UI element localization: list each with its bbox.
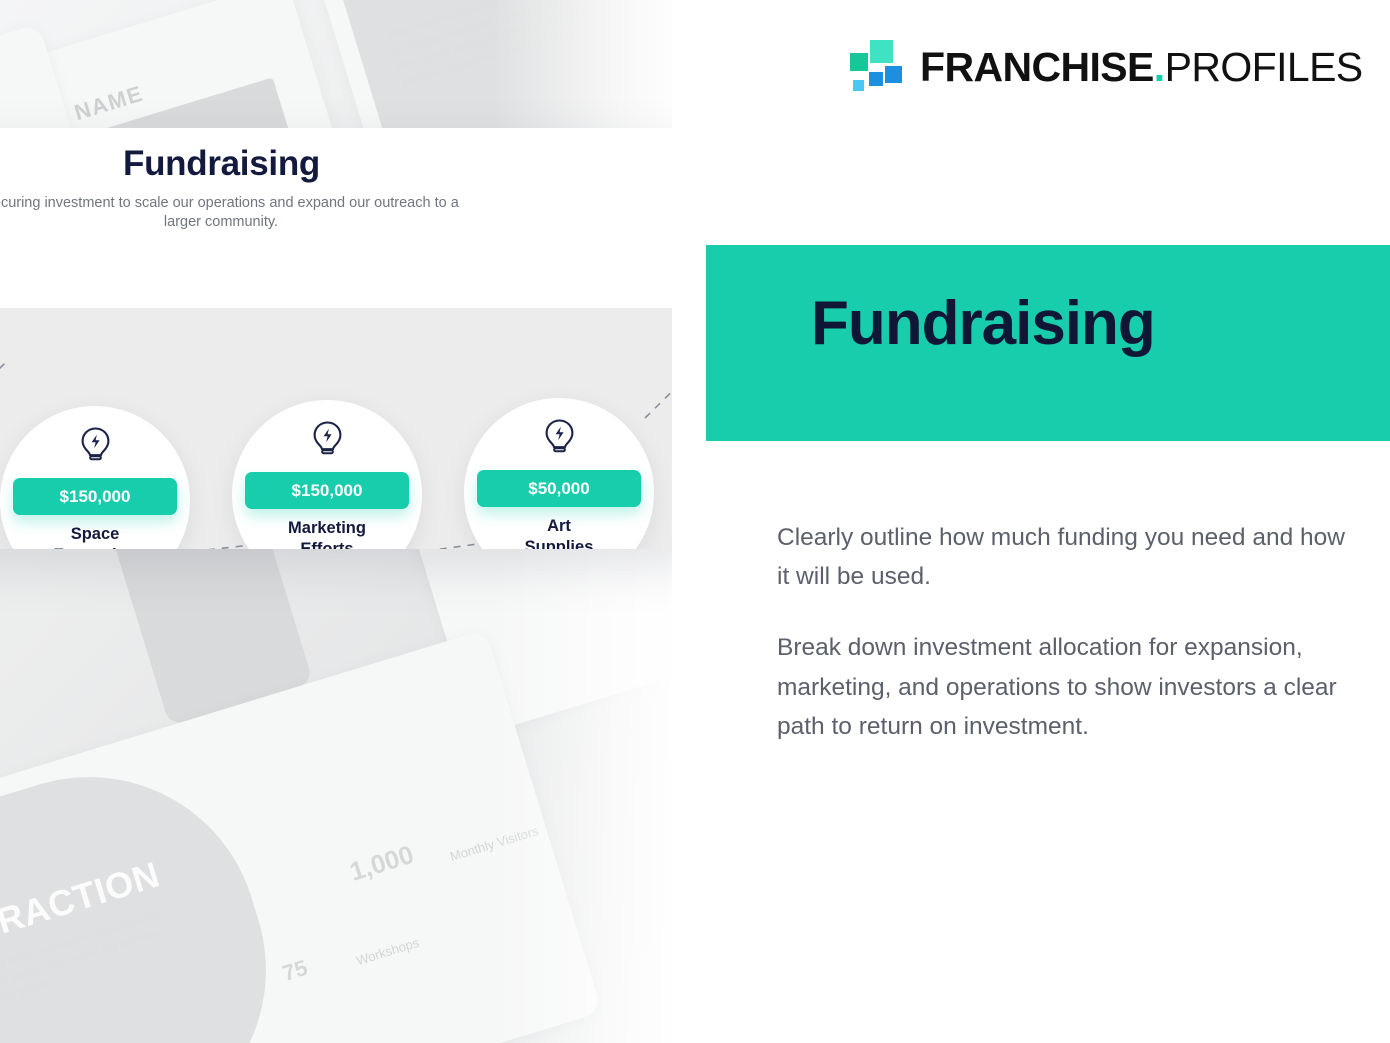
section-description: Clearly outline how much funding you nee… xyxy=(777,518,1353,746)
funding-amount-pill: $150,000 xyxy=(245,472,409,509)
lightbulb-icon xyxy=(232,420,422,463)
lightbulb-icon xyxy=(464,418,654,461)
logo-wordmark: FRANCHISE.PROFILES xyxy=(920,47,1363,88)
slide-preview-card: Fundraising Securing investment to scale… xyxy=(0,128,703,549)
lightbulb-icon xyxy=(0,426,190,469)
logo-word-franchise: FRANCHISE xyxy=(920,44,1154,90)
slide-preview-title: Fundraising xyxy=(0,144,703,184)
logo-mark-squares-icon xyxy=(848,38,906,96)
lightbulb-icon-svg xyxy=(79,426,112,464)
funding-node-label: Marketing Efforts xyxy=(232,518,422,549)
brand-logo: FRANCHISE.PROFILES xyxy=(848,38,1363,96)
slide-preview-subtitle: Securing investment to scale our operati… xyxy=(0,194,471,231)
funding-node-label: Space Expansion xyxy=(0,524,190,549)
lightbulb-icon-svg xyxy=(543,418,576,456)
logo-square-teal-large xyxy=(870,40,893,63)
funding-node-art-supplies[interactable]: $50,000 Art Supplies xyxy=(464,398,654,549)
slide-canvas: COMPANY NAME Investor pitch deck THE PRO… xyxy=(0,0,1390,1043)
logo-square-blue-small xyxy=(869,72,883,86)
logo-square-light-blue xyxy=(853,80,864,91)
logo-dot: . xyxy=(1154,44,1165,90)
description-paragraph-1: Clearly outline how much funding you nee… xyxy=(777,518,1353,596)
funding-amount-pill: $50,000 xyxy=(477,470,641,507)
description-paragraph-2: Break down investment allocation for exp… xyxy=(777,628,1353,746)
right-content-pane: FRANCHISE.PROFILES Fundraising Clearly o… xyxy=(672,0,1390,1043)
logo-square-blue-large xyxy=(885,66,902,83)
lightbulb-icon-svg xyxy=(311,420,344,458)
logo-square-green xyxy=(850,53,868,71)
funding-node-space-expansion[interactable]: $150,000 Space Expansion xyxy=(0,406,190,549)
funding-amount-pill: $150,000 xyxy=(13,478,177,515)
funding-node-label: Art Supplies xyxy=(464,516,654,549)
section-banner: Fundraising xyxy=(706,245,1390,441)
funding-node-marketing-efforts[interactable]: $150,000 Marketing Efforts xyxy=(232,400,422,549)
section-title: Fundraising xyxy=(811,293,1155,355)
logo-word-profiles: PROFILES xyxy=(1165,44,1363,90)
